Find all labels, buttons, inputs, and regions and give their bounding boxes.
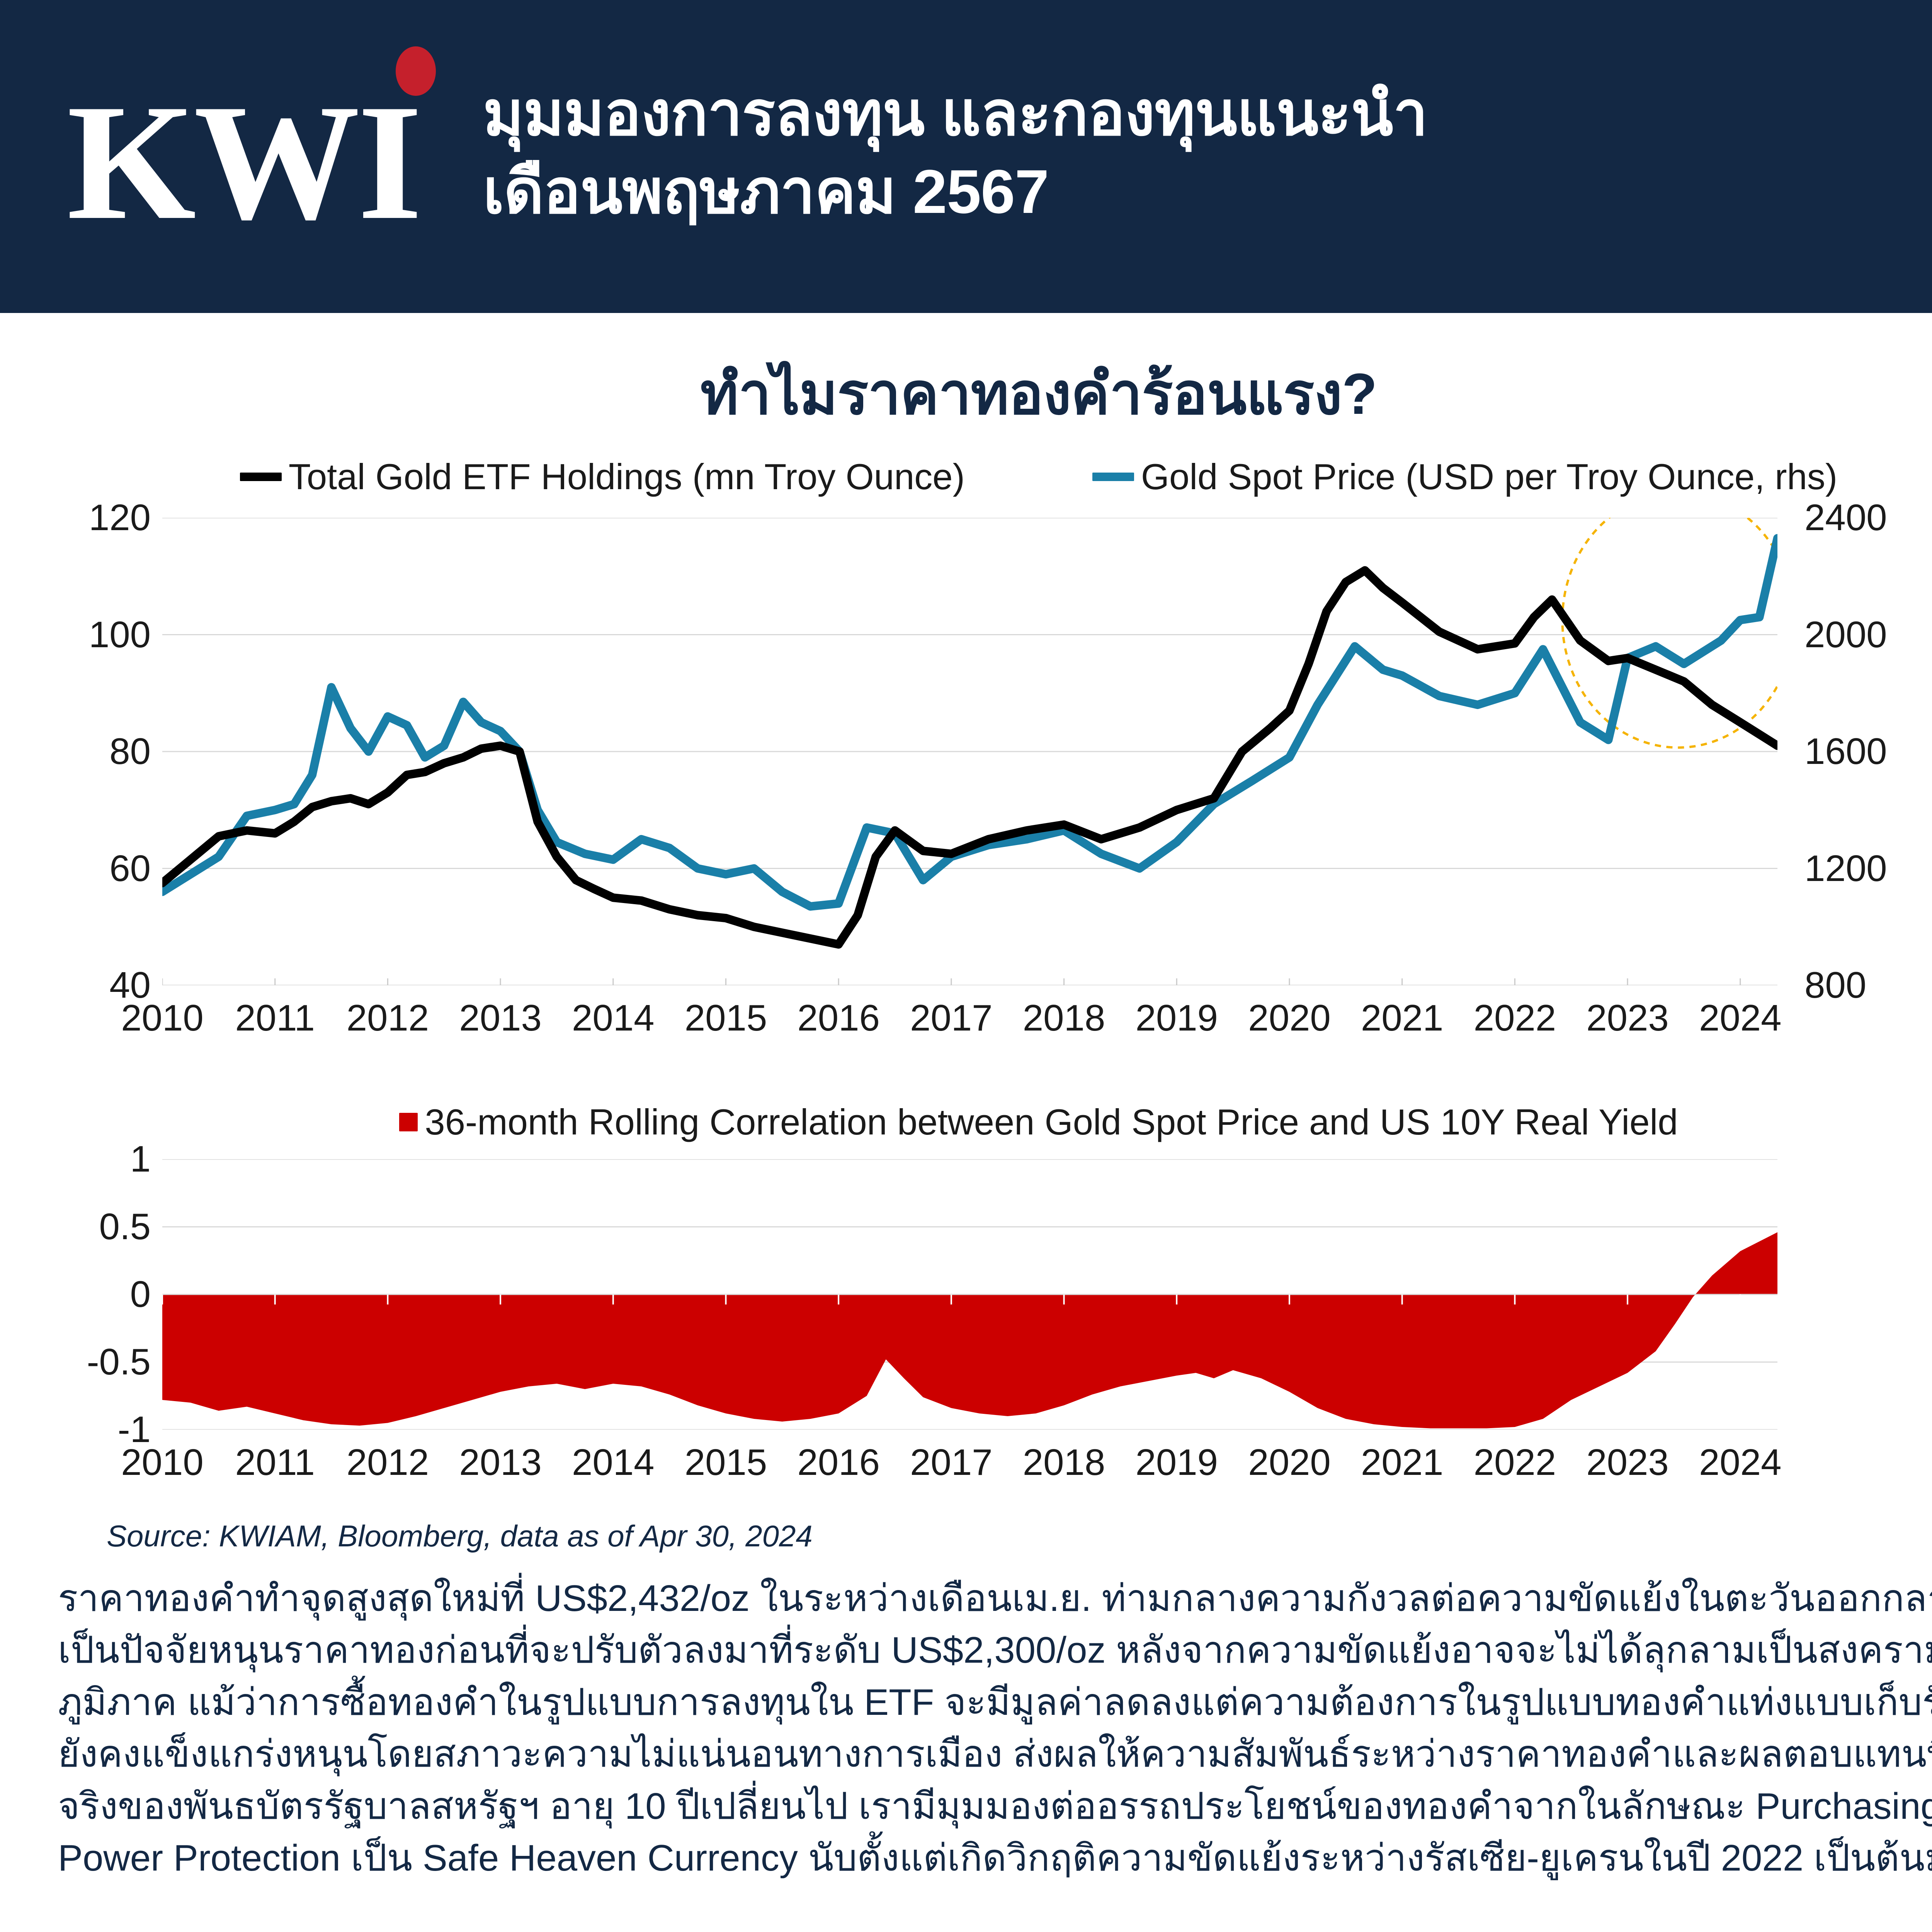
- chart2-x-tick: 2014: [572, 1441, 655, 1484]
- chart1-x-tick: 2013: [459, 997, 542, 1039]
- gold-etf-price-chart: Total Gold ETF Holdings (mn Troy Ounce) …: [0, 456, 1932, 1066]
- chart2-left-tick: 0.5: [99, 1206, 151, 1248]
- chart1-left-tick: 60: [109, 847, 151, 890]
- chart1-left-tick: 120: [89, 497, 151, 539]
- chart1-right-tick: 2000: [1804, 614, 1887, 656]
- article-body: ราคาทองคำทำจุดสูงสุดใหม่ที่ US$2,432/oz …: [58, 1573, 1932, 1884]
- chart1-x-tick: 2021: [1361, 997, 1444, 1039]
- page-header: KWI มุมมองการลงทุน และกองทุนแนะนำ เดือนพ…: [0, 0, 1932, 313]
- chart2-x-tick: 2017: [910, 1441, 993, 1484]
- legend-label-gold-spot: Gold Spot Price (USD per Troy Ounce, rhs…: [1141, 456, 1837, 498]
- chart2-x-tick: 2024: [1699, 1441, 1782, 1484]
- header-title-block: มุมมองการลงทุน และกองทุนแนะนำ เดือนพฤษภา…: [475, 75, 1932, 238]
- legend-swatch-black: [240, 473, 282, 481]
- chart1-x-tick: 2019: [1135, 997, 1218, 1039]
- chart1-left-tick: 100: [89, 614, 151, 656]
- chart2-left-tick: -0.5: [87, 1341, 151, 1383]
- kwi-logo: KWI: [0, 0, 475, 313]
- chart2-x-tick: 2020: [1248, 1441, 1331, 1484]
- legend-swatch-red: [399, 1113, 418, 1131]
- chart2-x-tick: 2010: [121, 1441, 204, 1484]
- chart1-x-tick: 2011: [235, 997, 315, 1039]
- chart1-left-axis: 406080100120: [46, 518, 151, 985]
- legend-item-etf-holdings: Total Gold ETF Holdings (mn Troy Ounce): [240, 456, 965, 498]
- legend-item-correlation: 36-month Rolling Correlation between Gol…: [399, 1101, 1678, 1143]
- chart2-x-tick: 2012: [347, 1441, 429, 1484]
- chart2-plot-area: [162, 1159, 1777, 1430]
- chart1-x-tick: 2012: [347, 997, 429, 1039]
- header-title-line-1: มุมมองการลงทุน และกองทุนแนะนำ: [483, 75, 1932, 153]
- chart1-x-tick: 2016: [797, 997, 880, 1039]
- chart1-x-tick: 2018: [1023, 997, 1105, 1039]
- chart2-x-axis: 2010201120122013201420152016201720182019…: [162, 1441, 1777, 1495]
- chart2-left-tick: 1: [130, 1138, 151, 1180]
- chart1-x-tick: 2010: [121, 997, 204, 1039]
- chart1-x-tick: 2023: [1586, 997, 1669, 1039]
- chart2-left-tick: 0: [130, 1273, 151, 1316]
- chart2-x-tick: 2023: [1586, 1441, 1669, 1484]
- chart2-x-tick: 2015: [685, 1441, 767, 1484]
- chart1-x-tick: 2022: [1474, 997, 1556, 1039]
- chart2-x-tick: 2018: [1023, 1441, 1105, 1484]
- article-paragraph: ราคาทองคำทำจุดสูงสุดใหม่ที่ US$2,432/oz …: [58, 1573, 1932, 1884]
- chart1-right-axis: 8001200160020002400: [1789, 518, 1932, 985]
- chart1-x-tick: 2024: [1699, 997, 1782, 1039]
- chart1-legend: Total Gold ETF Holdings (mn Troy Ounce) …: [0, 456, 1932, 498]
- chart1-x-tick: 2020: [1248, 997, 1331, 1039]
- source-note: Source: KWIAM, Bloomberg, data as of Apr…: [107, 1519, 813, 1554]
- chart1-x-tick: 2017: [910, 997, 993, 1039]
- chart2-left-axis: 10.50-0.5-1: [31, 1159, 151, 1430]
- legend-item-gold-spot: Gold Spot Price (USD per Troy Ounce, rhs…: [1092, 456, 1837, 498]
- header-title-line-2: เดือนพฤษภาคม 2567: [483, 153, 1932, 231]
- logo-wordmark: KWI: [67, 79, 420, 245]
- chart1-x-tick: 2015: [685, 997, 767, 1039]
- legend-label-correlation: 36-month Rolling Correlation between Gol…: [425, 1101, 1678, 1143]
- chart2-x-tick: 2011: [235, 1441, 315, 1484]
- chart2-x-tick: 2013: [459, 1441, 542, 1484]
- rolling-correlation-chart: 36-month Rolling Correlation between Gol…: [0, 1101, 1932, 1534]
- chart-section-title: ทำไมราคาทองคำร้อนแรง?: [0, 348, 1932, 440]
- legend-label-etf-holdings: Total Gold ETF Holdings (mn Troy Ounce): [289, 456, 965, 498]
- chart1-left-tick: 80: [109, 730, 151, 773]
- chart1-right-tick: 1600: [1804, 730, 1887, 773]
- chart2-x-tick: 2022: [1474, 1441, 1556, 1484]
- chart2-x-tick: 2021: [1361, 1441, 1444, 1484]
- chart2-x-tick: 2016: [797, 1441, 880, 1484]
- chart1-right-tick: 2400: [1804, 497, 1887, 539]
- chart1-right-tick: 1200: [1804, 847, 1887, 890]
- chart1-plot-area: [162, 518, 1777, 985]
- chart1-x-axis: 2010201120122013201420152016201720182019…: [162, 997, 1777, 1051]
- legend-swatch-blue: [1092, 473, 1134, 481]
- logo-red-dot-icon: [396, 46, 436, 96]
- chart2-legend: 36-month Rolling Correlation between Gol…: [0, 1101, 1932, 1143]
- chart1-x-tick: 2014: [572, 997, 655, 1039]
- chart1-right-tick: 800: [1804, 964, 1866, 1007]
- chart2-x-tick: 2019: [1135, 1441, 1218, 1484]
